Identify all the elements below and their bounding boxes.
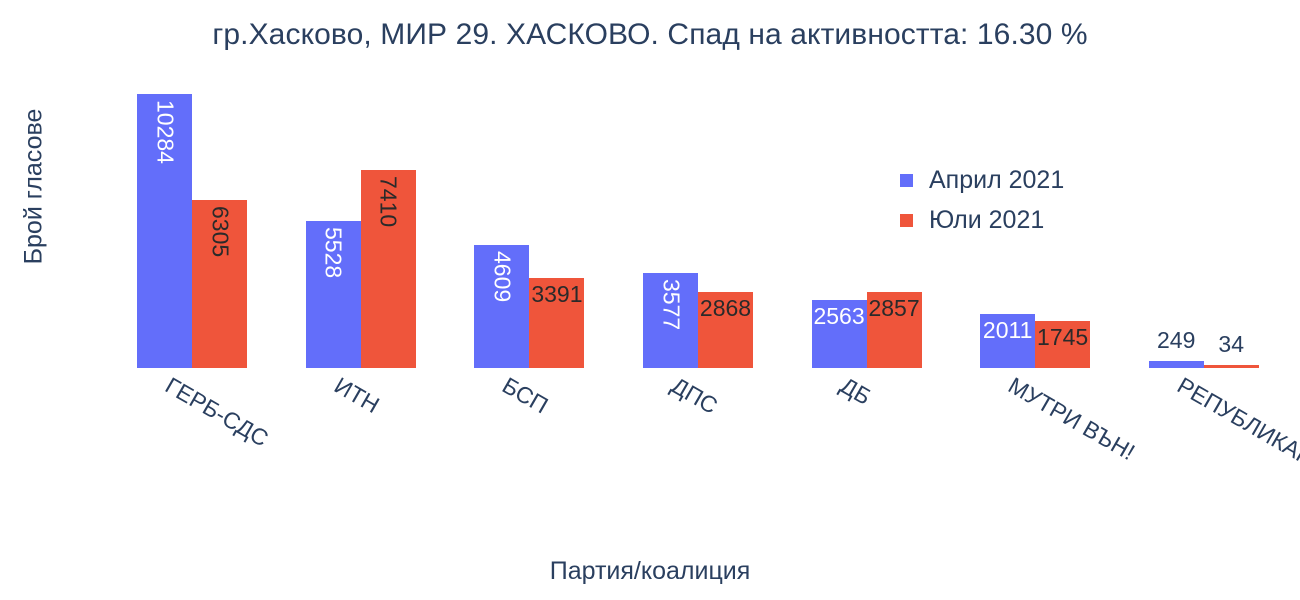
- bar-juli[interactable]: 6305: [192, 200, 247, 368]
- bar-april[interactable]: 249: [1149, 361, 1204, 368]
- bar-april[interactable]: 2563: [812, 300, 867, 368]
- legend-item-juli[interactable]: Юли 2021: [900, 200, 1064, 240]
- plot-area: 02k4k6k8k10k 102846305552874104609339135…: [108, 80, 1288, 368]
- bar-april[interactable]: 3577: [643, 273, 698, 368]
- bar-value-label: 34: [1218, 333, 1244, 356]
- bar-april[interactable]: 2011: [980, 314, 1035, 368]
- bar-value-label: 6305: [208, 206, 231, 257]
- legend-swatch-icon-juli: [900, 214, 913, 227]
- x-tick-label: РЕПУБЛИКАНЦИ ЗА БГ: [1172, 372, 1300, 524]
- bar-value-label: 10284: [153, 100, 176, 164]
- bar-value-label: 5528: [322, 227, 345, 278]
- x-tick-label: ДПС: [667, 372, 723, 420]
- bar-value-label: 3577: [659, 279, 682, 330]
- bar-chart-figure: гр.Хасково, МИР 29. ХАСКОВО. Спад на акт…: [0, 0, 1300, 600]
- legend-item-april[interactable]: Април 2021: [900, 160, 1064, 200]
- bar-juli[interactable]: 7410: [361, 170, 416, 368]
- legend-label-april: Април 2021: [929, 166, 1064, 195]
- chart-title: гр.Хасково, МИР 29. ХАСКОВО. Спад на акт…: [0, 18, 1300, 52]
- x-tick-label: ИТН: [329, 372, 383, 419]
- chart-legend[interactable]: Април 2021 Юли 2021: [900, 160, 1064, 240]
- bar-value-label: 2563: [813, 305, 864, 328]
- bar-value-label: 2857: [868, 297, 919, 320]
- x-tick-label: ДБ: [835, 372, 875, 411]
- bar-april[interactable]: 4609: [474, 245, 529, 368]
- bar-value-label: 2868: [700, 297, 751, 320]
- bar-value-label: 2011: [983, 319, 1032, 342]
- x-axis-title: Партия/коалиция: [0, 557, 1300, 586]
- bar-value-label: 249: [1157, 329, 1195, 352]
- bar-april[interactable]: 10284: [137, 94, 192, 368]
- bar-juli[interactable]: 3391: [529, 278, 584, 368]
- bar-value-label: 1745: [1037, 326, 1088, 349]
- bar-april[interactable]: 5528: [306, 221, 361, 368]
- bar-juli[interactable]: 2857: [867, 292, 922, 368]
- bar-value-label: 3391: [531, 283, 582, 306]
- bar-value-label: 4609: [490, 251, 513, 302]
- x-tick-label: МУТРИ ВЪН!: [1004, 372, 1140, 466]
- x-tick-label: БСП: [498, 372, 553, 419]
- bar-juli[interactable]: 1745: [1035, 321, 1090, 368]
- y-axis-title: Брой гласове: [20, 77, 49, 297]
- legend-label-juli: Юли 2021: [929, 206, 1044, 235]
- legend-swatch-icon-april: [900, 174, 913, 187]
- bar-value-label: 7410: [377, 176, 400, 227]
- bar-juli[interactable]: 2868: [698, 292, 753, 368]
- x-tick-label: ГЕРБ-СДС: [161, 372, 273, 452]
- bar-juli[interactable]: 34: [1204, 365, 1259, 368]
